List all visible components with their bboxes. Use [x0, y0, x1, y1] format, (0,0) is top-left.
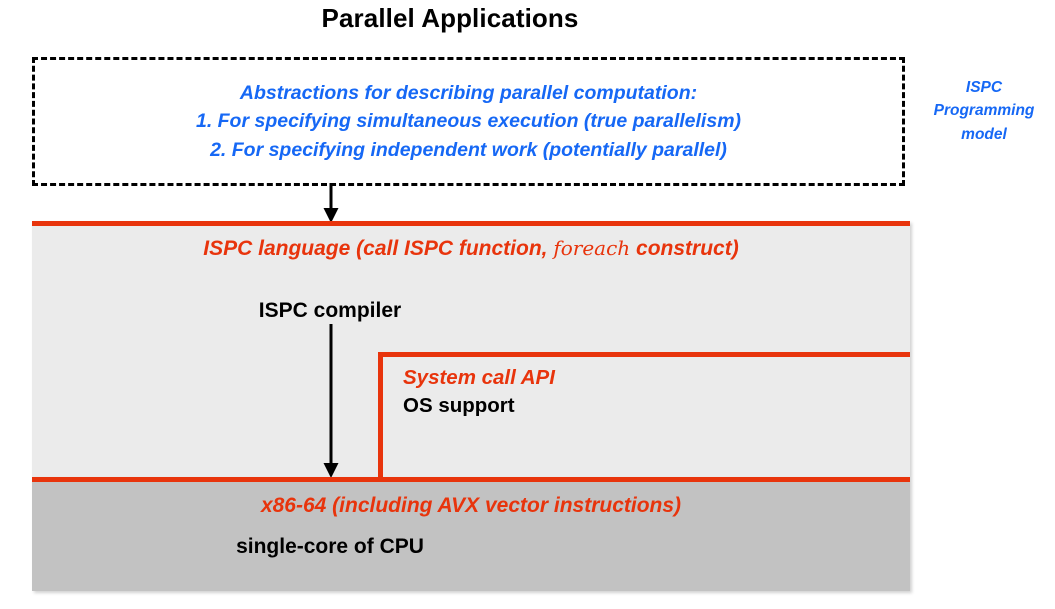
arrow-abstractions-to-ispc-icon — [318, 183, 344, 225]
os-support-label: OS support — [403, 394, 515, 418]
abstractions-dashed-box: Abstractions for describing parallel com… — [32, 57, 905, 186]
ispc-programming-model-label: ISPC Programming model — [918, 76, 1050, 146]
abstraction-line-1: Abstractions for describing parallel com… — [240, 79, 697, 108]
abstraction-line-2: 1. For specifying simultaneous execution… — [196, 107, 741, 136]
system-call-api-label: System call API — [403, 366, 555, 390]
page-title: Parallel Applications — [0, 3, 900, 34]
side-label-line-1: ISPC — [918, 76, 1050, 99]
ispc-language-suffix: construct) — [630, 237, 739, 260]
arrow-compiler-to-hardware-icon — [318, 324, 344, 480]
ispc-language-label: ISPC language (call ISPC function, forea… — [32, 236, 910, 261]
hardware-core-label: single-core of CPU — [140, 535, 520, 559]
side-label-line-2: Programming — [918, 99, 1050, 122]
ispc-compiler-label: ISPC compiler — [180, 299, 480, 323]
ispc-foreach-keyword: foreach — [553, 236, 630, 260]
ispc-language-prefix: ISPC language (call ISPC function, — [203, 237, 553, 260]
hardware-isa-label: x86-64 (including AVX vector instruction… — [32, 494, 910, 518]
diagram-canvas: Parallel Applications Abstractions for d… — [0, 0, 1055, 609]
abstraction-line-3: 2. For specifying independent work (pote… — [210, 136, 727, 165]
side-label-line-3: model — [918, 123, 1050, 146]
